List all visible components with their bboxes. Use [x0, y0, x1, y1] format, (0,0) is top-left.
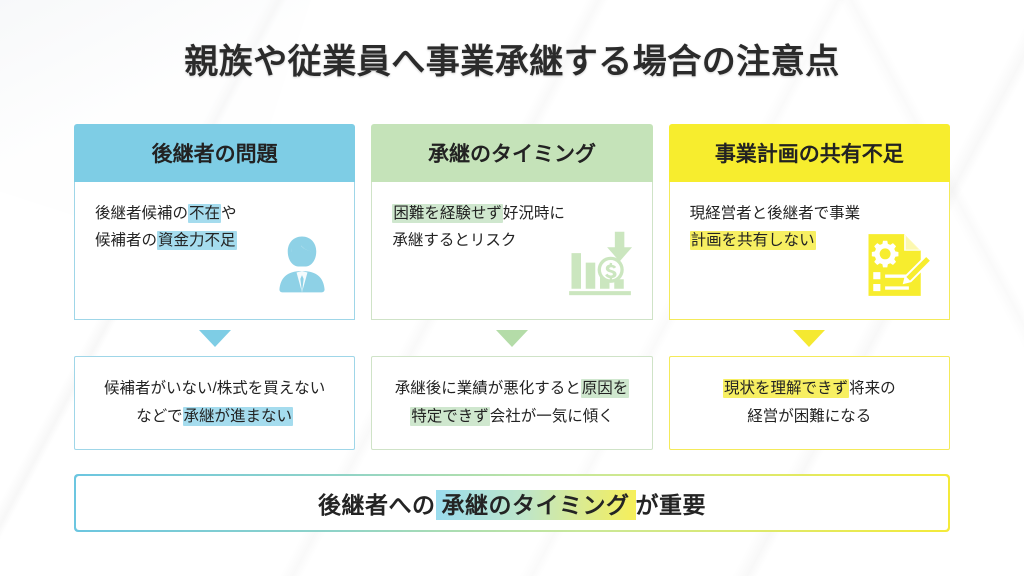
column-2: 承継のタイミング困難を経験せず好況時に承継するとリスク承継後に業績が悪化すると原… [371, 124, 652, 450]
column-3-body-line: 計画を共有しない [690, 227, 890, 254]
column-2-body-line: 困難を経験せず好況時に [392, 200, 592, 227]
summary-suffix: が重要 [636, 492, 707, 518]
summary-bar-inner: 後継者への承継のタイミングが重要 [76, 476, 948, 530]
page-title: 親族や従業員へ事業承継する場合の注意点 [0, 34, 1024, 83]
column-2-body-text: 承継するとリスク [392, 232, 516, 249]
slide-canvas: 親族や従業員へ事業承継する場合の注意点 後継者の問題後継者候補の不在や候補者の資… [0, 0, 1024, 576]
column-1-body-highlight: 不在 [188, 204, 221, 223]
column-outcome-1: 候補者がいない/株式を買えないなどで承継が進まない [74, 356, 355, 450]
column-3-body-highlight: 計画を共有しない [690, 231, 816, 250]
arrow-wrap-1 [74, 320, 355, 356]
column-1: 後継者の問題後継者候補の不在や候補者の資金力不足候補者がいない/株式を買えないな… [74, 124, 355, 450]
summary-prefix: 後継者への [318, 492, 436, 518]
column-1-outcome-line: などで承継が進まない [104, 403, 325, 431]
column-body-text-3: 現経営者と後継者で事業計画を共有しない [690, 200, 890, 254]
column-1-outcome-highlight: 承継が進まない [183, 407, 294, 426]
column-1-outcome-line: 候補者がいない/株式を買えない [104, 375, 325, 403]
summary-bar: 後継者への承継のタイミングが重要 [74, 474, 950, 532]
column-2-body-text: 好況時に [503, 205, 565, 222]
column-1-body-text: 候補者の [95, 232, 157, 249]
column-3-outcome-highlight: 現状を理解できず [723, 379, 849, 398]
arrow-wrap-2 [371, 320, 652, 356]
column-3-outcome-text: 経営が困難になる [747, 408, 871, 425]
column-body-text-2: 困難を経験せず好況時に承継するとリスク [392, 200, 592, 254]
column-1-outcome-text: などで [136, 408, 182, 425]
column-body-3: 現経営者と後継者で事業計画を共有しない [669, 182, 950, 320]
column-2-body-highlight: 困難を経験せず [392, 204, 503, 223]
column-3: 事業計画の共有不足現経営者と後継者で事業計画を共有しない現状を理解できず将来の経… [669, 124, 950, 450]
column-outcome-2: 承継後に業績が悪化すると原因を特定できず会社が一気に傾く [371, 356, 652, 450]
column-3-outcome-line: 現状を理解できず将来の [723, 375, 896, 403]
down-triangle-icon-3 [793, 330, 825, 347]
column-2-outcome-line: 特定できず会社が一気に傾く [395, 403, 630, 431]
column-body-text-1: 後継者候補の不在や候補者の資金力不足 [95, 200, 295, 254]
down-triangle-icon-1 [199, 330, 231, 347]
column-outcome-text-3: 現状を理解できず将来の経営が困難になる [723, 375, 896, 431]
column-2-outcome-text: 承継後に業績が悪化すると [395, 380, 581, 397]
column-3-outcome-text: 将来の [849, 380, 896, 397]
columns-container: 後継者の問題後継者候補の不在や候補者の資金力不足候補者がいない/株式を買えないな… [74, 124, 950, 450]
column-1-outcome-text: 候補者がいない/株式を買えない [104, 380, 325, 397]
column-2-outcome-text: 会社が一気に傾く [490, 408, 614, 425]
column-3-body-line: 現経営者と後継者で事業 [690, 200, 890, 227]
column-1-body-line: 候補者の資金力不足 [95, 227, 295, 254]
column-3-outcome-line: 経営が困難になる [723, 403, 896, 431]
column-1-body-line: 後継者候補の不在や [95, 200, 295, 227]
column-1-body-highlight: 資金力不足 [157, 231, 237, 250]
column-outcome-3: 現状を理解できず将来の経営が困難になる [669, 356, 950, 450]
summary-text: 後継者への承継のタイミングが重要 [318, 486, 706, 520]
column-header-1: 後継者の問題 [74, 124, 355, 182]
column-header-3: 事業計画の共有不足 [669, 124, 950, 182]
column-2-outcome-highlight: 特定できず [410, 407, 490, 426]
column-2-outcome-line: 承継後に業績が悪化すると原因を [395, 375, 630, 403]
column-3-body-text: 現経営者と後継者で事業 [690, 205, 861, 222]
column-2-body-line: 承継するとリスク [392, 227, 592, 254]
column-body-2: 困難を経験せず好況時に承継するとリスク [371, 182, 652, 320]
column-2-outcome-highlight: 原因を [581, 379, 630, 398]
arrow-wrap-3 [669, 320, 950, 356]
column-outcome-text-1: 候補者がいない/株式を買えないなどで承継が進まない [104, 375, 325, 431]
column-outcome-text-2: 承継後に業績が悪化すると原因を特定できず会社が一気に傾く [395, 375, 630, 431]
column-1-body-text: や [221, 205, 237, 222]
summary-highlight: 承継のタイミング [436, 490, 636, 520]
column-header-2: 承継のタイミング [371, 124, 652, 182]
down-triangle-icon-2 [496, 330, 528, 347]
column-1-body-text: 後継者候補の [95, 205, 188, 222]
column-body-1: 後継者候補の不在や候補者の資金力不足 [74, 182, 355, 320]
